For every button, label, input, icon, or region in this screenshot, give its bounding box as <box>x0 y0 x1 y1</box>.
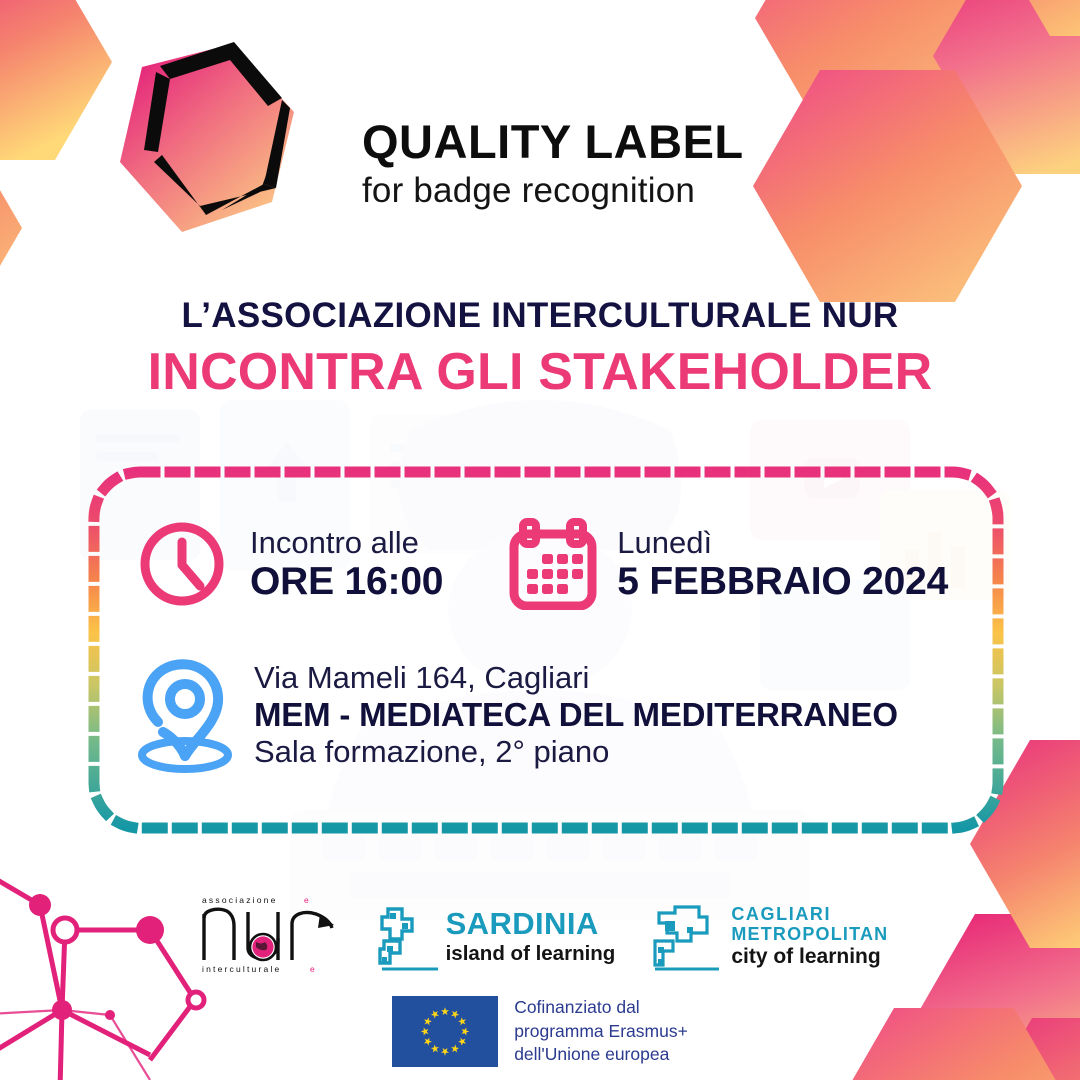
time-value: ORE 16:00 <box>250 561 443 604</box>
detail-location: Via Mameli 164, Cagliari MEM - MEDIATECA… <box>136 656 898 774</box>
sardinia-title: SARDINIA <box>446 908 616 939</box>
location-venue: MEM - MEDIATECA DEL MEDITERRANEO <box>254 696 898 734</box>
date-label: Lunedì <box>617 525 948 561</box>
logo-title: QUALITY LABEL <box>362 118 744 165</box>
logo-subtitle: for badge recognition <box>362 169 744 213</box>
time-text-block: Incontro alle ORE 16:00 <box>250 525 443 604</box>
clock-icon <box>136 518 228 610</box>
eu-funding-line-3: dell'Unione europea <box>514 1043 688 1066</box>
cagliari-title-line-2: METROPOLITAN <box>731 924 888 944</box>
svg-text:e: e <box>304 895 311 905</box>
eu-flag-icon <box>392 996 498 1067</box>
event-details-card: Incontro alle ORE 16:00 <box>88 466 1004 834</box>
partner-logo-row: associazione e interculturale e <box>0 892 1080 981</box>
calendar-icon <box>509 518 597 610</box>
sardinia-pixel-logo <box>374 901 440 973</box>
headline-line-2: INCONTRA GLI STAKEHOLDER <box>0 342 1080 403</box>
time-and-date-row: Incontro alle ORE 16:00 <box>136 518 956 610</box>
svg-text:e: e <box>310 964 317 974</box>
location-text-block: Via Mameli 164, Cagliari MEM - MEDIATECA… <box>254 660 898 770</box>
sardinia-subtitle: island of learning <box>446 942 616 966</box>
partner-logo-nur: associazione e interculturale e <box>192 892 344 981</box>
headline-line-1: L’ASSOCIAZIONE INTERCULTURALE NUR <box>0 296 1080 336</box>
cagliari-title-line-1: CAGLIARI <box>731 904 888 924</box>
header: QUALITY LABEL for badge recognition <box>0 0 1080 270</box>
eu-funding-line-1: Cofinanziato dal <box>514 996 688 1019</box>
time-label: Incontro alle <box>250 525 443 561</box>
location-address: Via Mameli 164, Cagliari <box>254 660 898 696</box>
partner-logo-sardinia: SARDINIA island of learning <box>374 901 616 973</box>
location-room: Sala formazione, 2° piano <box>254 734 898 770</box>
poster-root: QUALITY LABEL for badge recognition L’AS… <box>0 0 1080 1080</box>
headline-block: L’ASSOCIAZIONE INTERCULTURALE NUR INCONT… <box>0 296 1080 404</box>
nur-logo: associazione e interculturale e <box>192 892 344 976</box>
detail-date: Lunedì 5 FEBBRAIO 2024 <box>509 518 948 610</box>
quality-label-wordmark: QUALITY LABEL for badge recognition <box>362 118 744 213</box>
partner-logo-cagliari: CAGLIARI METROPOLITAN city of learning <box>645 901 888 973</box>
detail-time: Incontro alle ORE 16:00 <box>136 518 443 610</box>
date-value: 5 FEBBRAIO 2024 <box>617 561 948 604</box>
eu-funding-text: Cofinanziato dal programma Erasmus+ dell… <box>514 996 688 1066</box>
nur-logo-top-text: associazione <box>202 895 278 905</box>
eu-funding-block: Cofinanziato dal programma Erasmus+ dell… <box>0 996 1080 1067</box>
quality-label-hexagon-mark <box>82 22 352 252</box>
nur-logo-bottom-text: interculturale <box>202 964 281 974</box>
cagliari-pixel-logo <box>645 901 723 973</box>
date-text-block: Lunedì 5 FEBBRAIO 2024 <box>617 525 948 604</box>
eu-funding-line-2: programma Erasmus+ <box>514 1020 688 1043</box>
map-pin-icon <box>136 656 234 774</box>
cagliari-subtitle: city of learning <box>731 945 888 969</box>
location-row: Via Mameli 164, Cagliari MEM - MEDIATECA… <box>136 656 956 774</box>
